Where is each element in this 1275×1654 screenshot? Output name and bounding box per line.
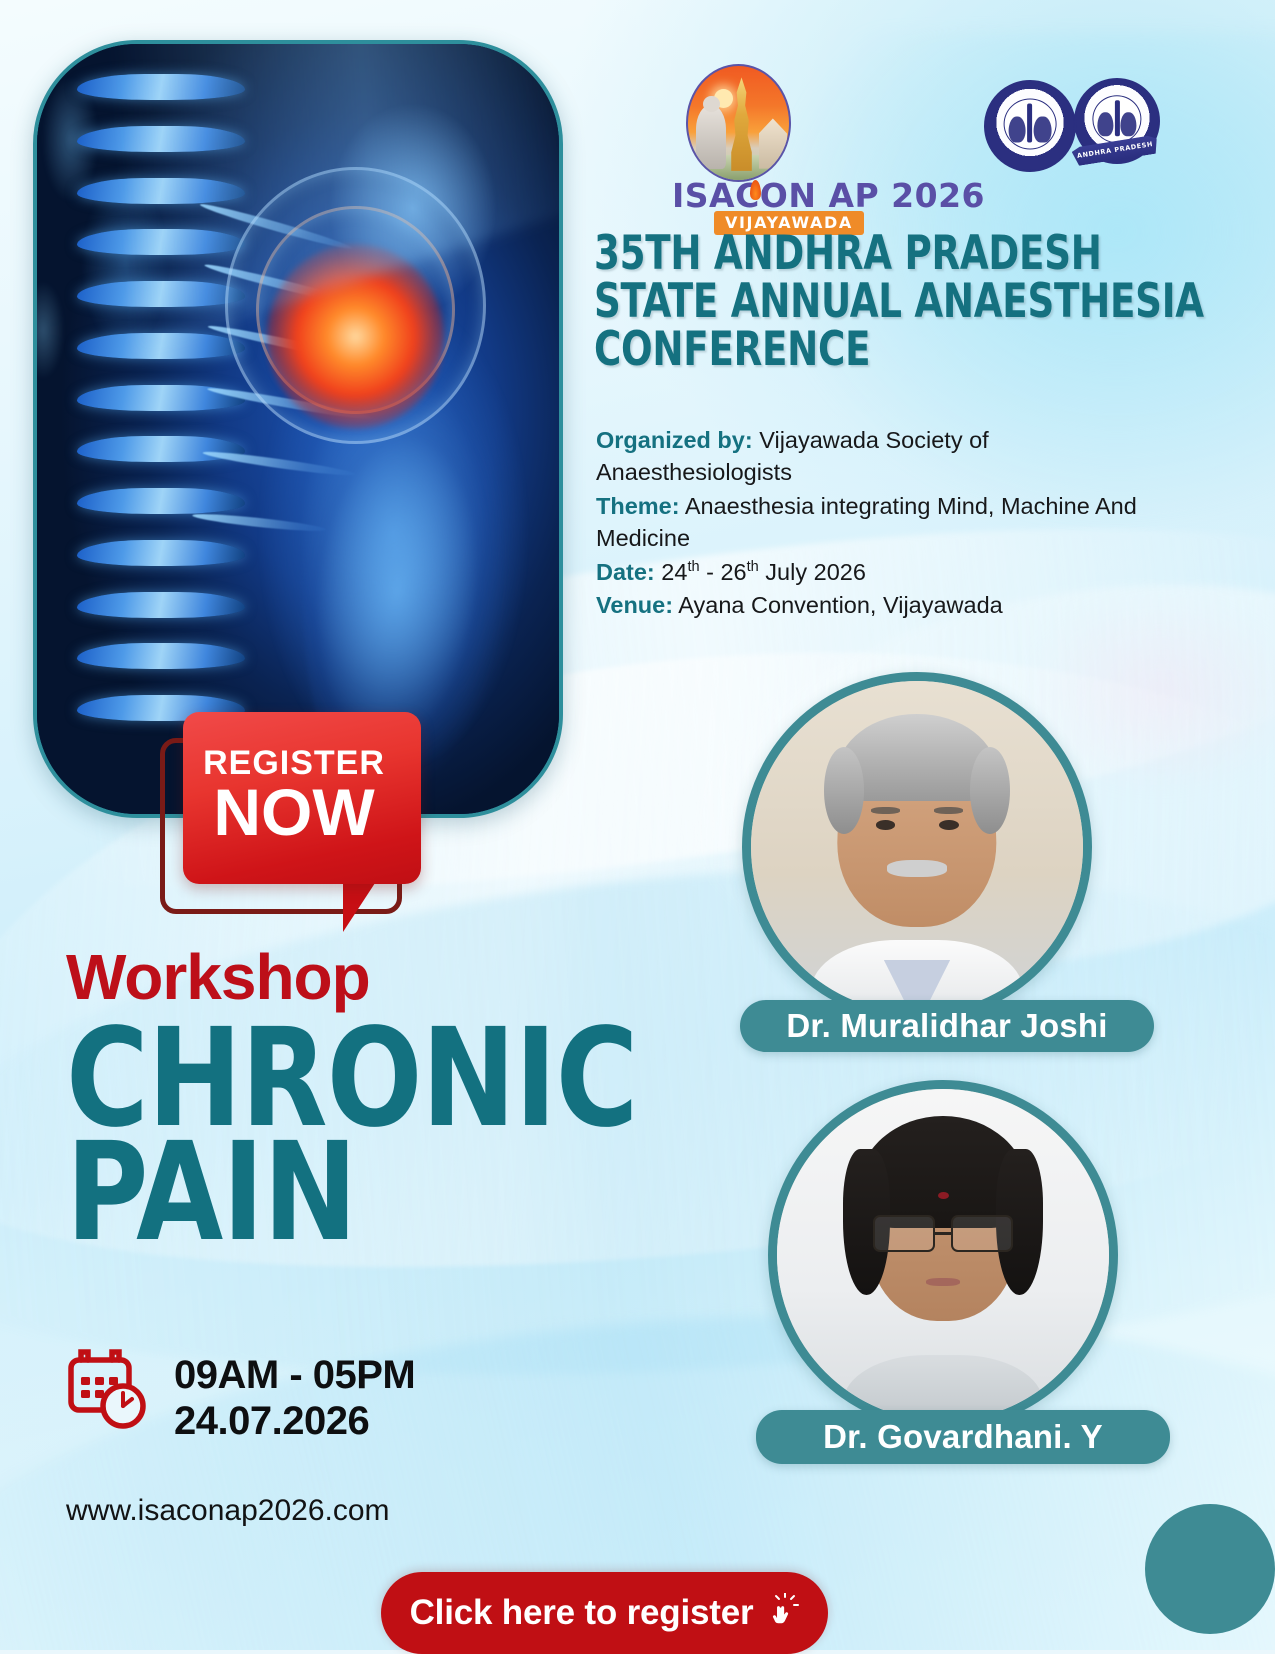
click-hand-cursor-icon (765, 1593, 799, 1633)
detail-organized-by: Organized by: Vijayawada Society of Anae… (596, 424, 1176, 489)
isa-national-seal-icon (984, 80, 1076, 172)
detail-date: Date: 24th - 26th July 2026 (596, 556, 1176, 588)
hero-xray-image (33, 40, 563, 818)
cta-label: Click here to register (410, 1593, 754, 1633)
headline-line-1: 35TH ANDHRA PRADESH (594, 230, 1104, 278)
speaker-photo-2 (768, 1080, 1118, 1430)
schedule-text: 09AM - 05PM 24.07.2026 (174, 1352, 415, 1445)
badge-speech-tail (343, 880, 377, 932)
detail-venue: Venue: Ayana Convention, Vijayawada (596, 589, 1176, 621)
detail-date-separator: - (700, 559, 721, 585)
conference-details: Organized by: Vijayawada Society of Anae… (596, 424, 1176, 623)
schedule-time: 09AM - 05PM (174, 1352, 415, 1398)
isacon-logo: ISACON AP 2026 VIJAYAWADA (672, 64, 894, 214)
detail-label-venue: Venue: (596, 592, 673, 618)
schedule-date: 24.07.2026 (174, 1398, 415, 1444)
detail-date-sup-start: th (687, 559, 699, 575)
detail-label-theme: Theme: (596, 493, 680, 519)
detail-date-day-end: 26 (720, 559, 746, 585)
speaker-name-badge-2: Dr. Govardhani. Y (756, 1410, 1170, 1464)
detail-date-month-year: July 2026 (759, 559, 866, 585)
temple-buddha-emblem-icon (686, 64, 791, 182)
detail-theme: Theme: Anaesthesia integrating Mind, Mac… (596, 490, 1176, 555)
calendar-clock-icon (66, 1348, 150, 1432)
flame-icon (750, 180, 761, 200)
speaker-photo-1 (742, 672, 1092, 1022)
headline-line-2: STATE ANNUAL ANAESTHESIA (594, 278, 1104, 326)
badge-line-2: NOW (160, 774, 428, 850)
detail-date-sup-end: th (747, 559, 759, 575)
detail-value-venue: Ayana Convention, Vijayawada (678, 592, 1002, 618)
workshop-title: CHRONIC PAIN (66, 1022, 618, 1250)
speaker-name-badge-1: Dr. Muralidhar Joshi (740, 1000, 1154, 1052)
detail-date-day-start: 24 (661, 559, 687, 585)
register-cta-button[interactable]: Click here to register (381, 1572, 828, 1654)
decorative-teal-circle (1145, 1504, 1275, 1634)
website-url[interactable]: www.isaconap2026.com (66, 1494, 390, 1528)
page-title: 35TH ANDHRA PRADESH STATE ANNUAL ANAESTH… (594, 230, 1104, 374)
detail-label-date: Date: (596, 559, 655, 585)
isacon-wordmark: ISACON AP 2026 (672, 176, 894, 215)
register-now-badge[interactable]: REGISTER NOW (160, 712, 428, 944)
detail-label-organized: Organized by: (596, 427, 753, 453)
headline-line-3: CONFERENCE (594, 326, 1104, 374)
